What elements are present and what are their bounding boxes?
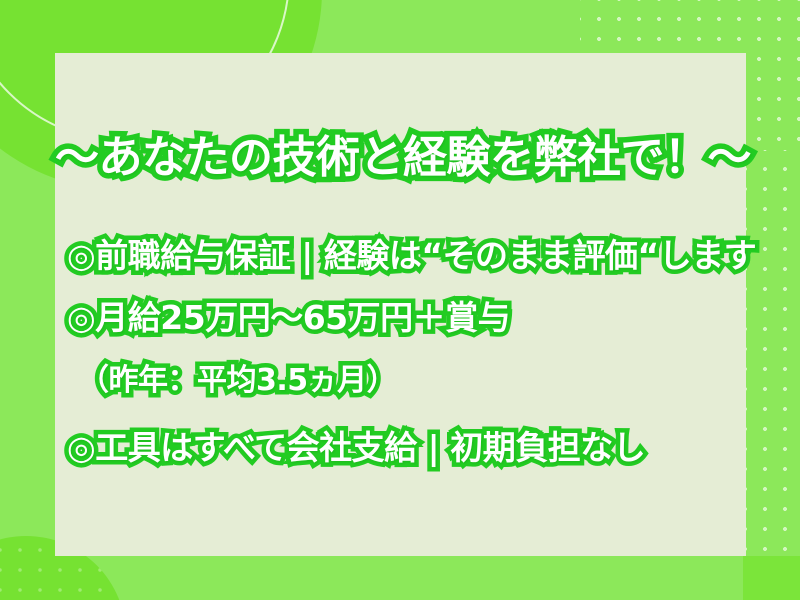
bullet-salary-guarantee: ◎前職給与保証 | 経験は“そのまま評価“します: [67, 235, 756, 277]
bottom-right-band: [743, 556, 800, 600]
dot-grid-icon-right-edge: [746, 150, 800, 556]
text-content-block: 〜あなたの技術と経験を弊社で！〜 ◎前職給与保証 | 経験は“そのまま評価“しま…: [55, 53, 746, 556]
page-title: 〜あなたの技術と経験を弊社で！〜: [55, 131, 746, 185]
bullet-tools-provided: ◎工具はすべて会社支給 | 初期負担なし: [67, 427, 645, 469]
promo-slide: 〜あなたの技術と経験を弊社で！〜 ◎前職給与保証 | 経験は“そのまま評価“しま…: [0, 0, 800, 600]
bullet-bonus-note: （昨年：平均3.5ヵ月）: [79, 360, 396, 402]
bullet-monthly-pay: ◎月給25万円〜65万円＋賞与: [67, 297, 510, 339]
